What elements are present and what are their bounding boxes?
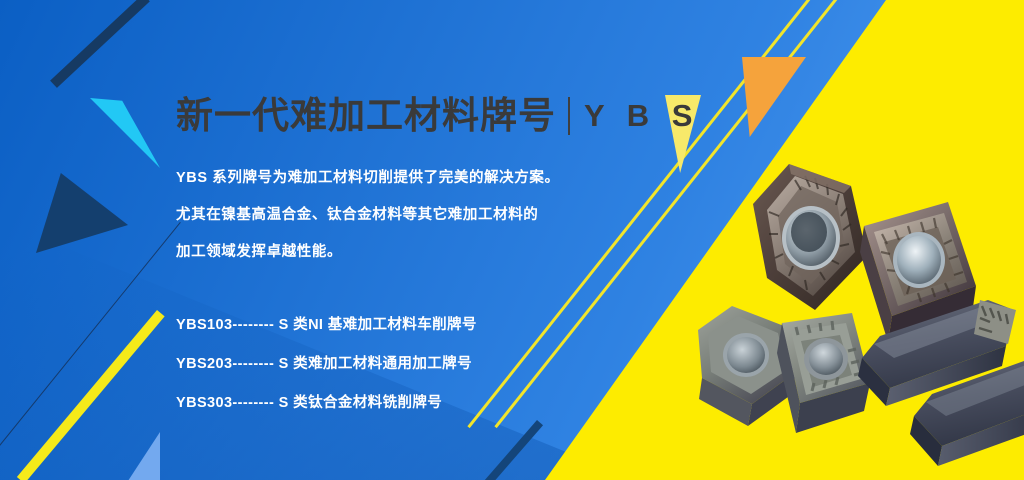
product-banner: 新一代难加工材料牌号 Y B S YBS 系列牌号为难加工材料切削提供了完美的解…: [0, 0, 1024, 480]
product-grade-ybs203: YBS203-------- S 类难加工材料通用加工牌号: [176, 345, 477, 384]
product-grade-ybs303: YBS303-------- S 类钛合金材料铣削牌号: [176, 384, 477, 423]
description-line-2: 尤其在镍基高温合金、钛合金材料等其它难加工材料的: [176, 197, 560, 234]
headline-main-text: 新一代难加工材料牌号: [176, 97, 556, 134]
banner-description: YBS 系列牌号为难加工材料切削提供了完美的解决方案。 尤其在镍基高温合金、钛合…: [176, 160, 560, 271]
product-grade-ybs103: YBS103-------- S 类NI 基难加工材料车削牌号: [176, 306, 477, 345]
product-grade-list: YBS103-------- S 类NI 基难加工材料车削牌号 YBS203--…: [176, 306, 477, 423]
description-line-3: 加工领域发挥卓越性能。: [176, 234, 560, 271]
headline-brand-text: Y B S: [584, 100, 699, 131]
banner-headline: 新一代难加工材料牌号 Y B S: [176, 97, 699, 135]
headline-divider: [568, 97, 570, 135]
description-line-1: YBS 系列牌号为难加工材料切削提供了完美的解决方案。: [176, 160, 560, 197]
banner-text-content: 新一代难加工材料牌号 Y B S YBS 系列牌号为难加工材料切削提供了完美的解…: [176, 0, 736, 480]
